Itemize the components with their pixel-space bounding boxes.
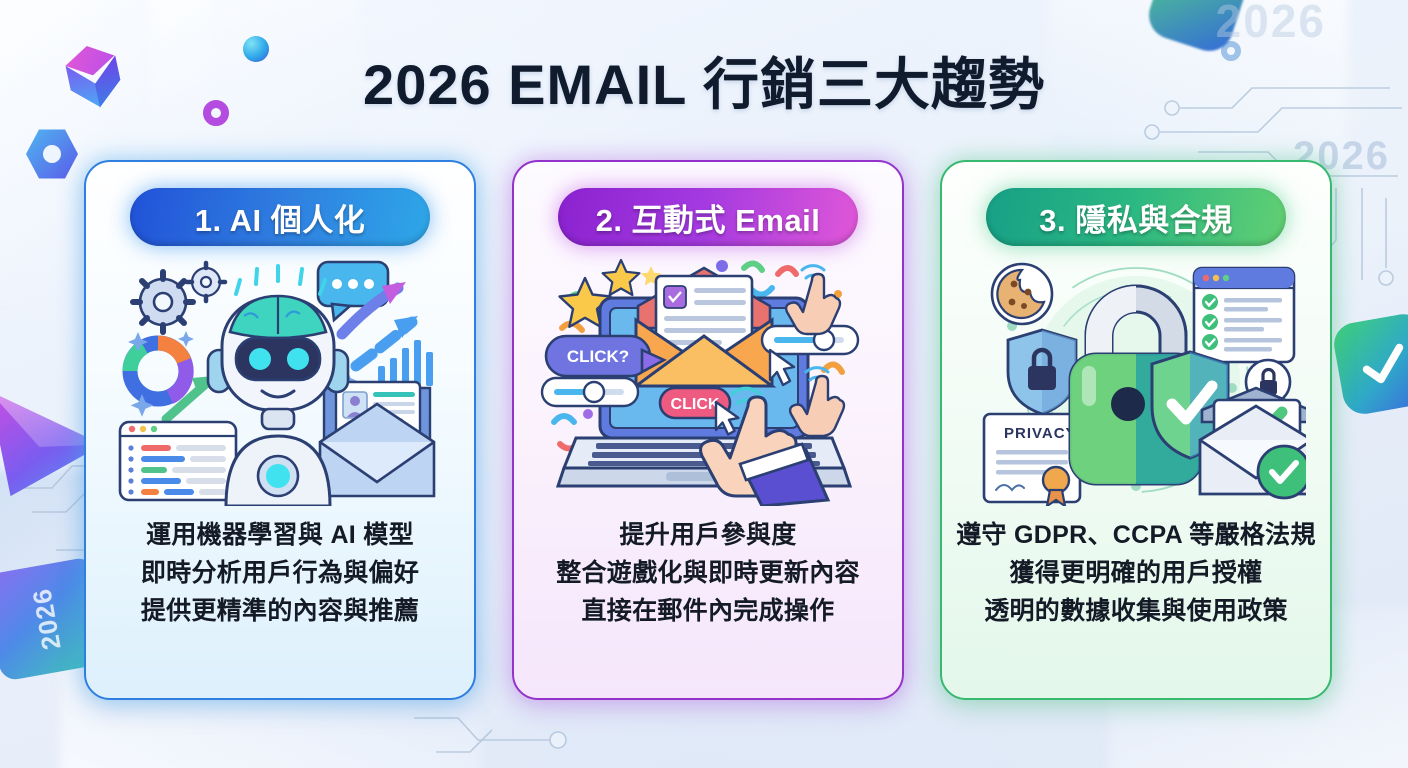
browser-window-icon xyxy=(120,422,236,500)
privacy-lock-illustration: PRIVACY xyxy=(966,254,1306,506)
speech-bubble-label: CLICK? xyxy=(567,347,629,366)
certificate-label: PRIVACY xyxy=(1004,425,1077,442)
trend-card-privacy-compliance[interactable]: 3. 隱私與合規 xyxy=(940,160,1332,700)
card-heading-pill: 1. AI 個人化 xyxy=(130,188,430,246)
check-icon xyxy=(1353,333,1408,396)
cookie-icon xyxy=(992,264,1052,324)
page-title: 2026 EMAIL 行銷三大趨勢 xyxy=(0,40,1408,121)
privacy-certificate-icon: PRIVACY xyxy=(984,414,1080,506)
card-body-text: 運用機器學習與 AI 模型 即時分析用戶行為與偏好 提供更精準的內容與推薦 xyxy=(141,516,419,630)
gear-icon xyxy=(133,272,193,332)
card-body-text: 提升用戶參與度 整合遊戲化與即時更新內容 直接在郵件內完成操作 xyxy=(556,516,860,630)
card-heading-text: 3. 隱私與合規 xyxy=(1039,195,1232,240)
chat-bubble-icon xyxy=(318,262,388,320)
card-heading-pill: 3. 隱私與合規 xyxy=(986,188,1286,246)
card-body-line: 遵守 GDPR、CCPA 等嚴格法規 xyxy=(956,516,1316,554)
card-body-line: 獲得更明確的用戶授權 xyxy=(956,554,1316,592)
donut-chart-icon xyxy=(130,343,186,399)
trend-card-interactive-email[interactable]: 2. 互動式 Email xyxy=(512,160,904,700)
envelope-profile-icon xyxy=(320,382,434,496)
check-badge-decoration xyxy=(1331,311,1408,418)
open-envelope-icon xyxy=(636,268,772,386)
card-heading-text: 2. 互動式 Email xyxy=(596,195,821,240)
envelope-check-icon xyxy=(1200,388,1306,498)
card-body-text: 遵守 GDPR、CCPA 等嚴格法規 獲得更明確的用戶授權 透明的數據收集與使用… xyxy=(956,516,1316,630)
shield-lock-icon xyxy=(1008,330,1076,414)
card-body-line: 運用機器學習與 AI 模型 xyxy=(141,516,419,554)
floating-year-card-label: 2026 xyxy=(26,586,67,652)
card-body-line: 即時分析用戶行為與偏好 xyxy=(141,554,419,592)
infographic-canvas: 2026 2026 2026 2026 EMAIL 行銷三大趨勢 1. AI 個… xyxy=(0,0,1408,768)
interactive-laptop-illustration: CLICK? xyxy=(538,254,878,506)
trend-card-ai-personalization[interactable]: 1. AI 個人化 xyxy=(84,160,476,700)
click-button-label: CLICK xyxy=(671,396,720,413)
card-body-line: 提升用戶參與度 xyxy=(556,516,860,554)
check-icon xyxy=(1202,294,1218,350)
card-heading-text: 1. AI 個人化 xyxy=(195,195,365,240)
checklist-window-icon xyxy=(1194,268,1294,362)
circuit-trace-decoration xyxy=(400,690,700,768)
card-body-line: 提供更精準的內容與推薦 xyxy=(141,592,419,630)
slider-control xyxy=(542,378,638,406)
card-body-line: 直接在郵件內完成操作 xyxy=(556,592,860,630)
card-body-line: 透明的數據收集與使用政策 xyxy=(956,592,1316,630)
gear-icon xyxy=(187,263,225,301)
trend-card-row: 1. AI 個人化 xyxy=(84,160,1332,700)
card-body-line: 整合遊戲化與即時更新內容 xyxy=(556,554,860,592)
card-heading-pill: 2. 互動式 Email xyxy=(558,188,858,246)
ai-robot-illustration xyxy=(110,254,450,506)
